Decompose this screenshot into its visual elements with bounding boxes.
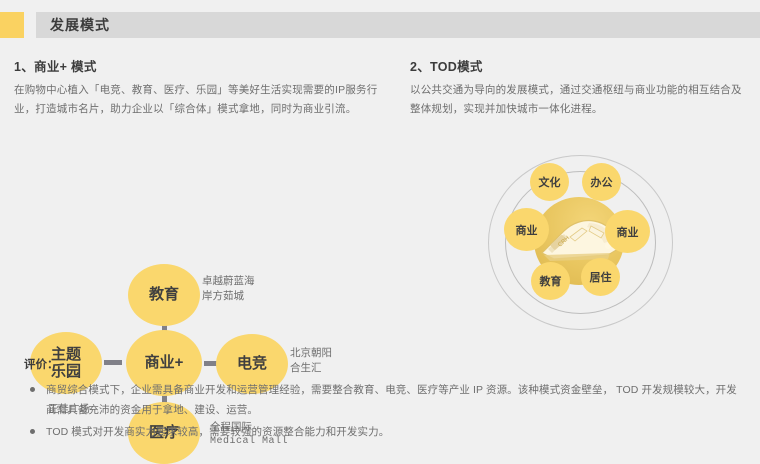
label-education-example-line1: 卓越蔚蓝海 <box>202 274 302 289</box>
section-right-body: 以公共交通为导向的发展模式，通过交通枢纽与商业功能的相互结合及整体规划，实现并加… <box>410 81 746 120</box>
section-right-text: 2、TOD模式 以公共交通为导向的发展模式，通过交通枢纽与商业功能的相互结合及整… <box>410 56 746 120</box>
commerce-plus-diagram: 教育 主题 乐园 商业+ 电竞 医疗 卓越蔚蓝海 岸方茹城 北京朝阳 合生汇 全… <box>0 130 380 345</box>
section-left-title: 1、商业+ 模式 <box>14 56 384 75</box>
bullet-icon <box>30 429 35 434</box>
label-education-example-line2: 岸方茹城 <box>202 289 302 304</box>
bullet-icon <box>30 387 35 392</box>
label-education-example: 卓越蔚蓝海 岸方茹城 <box>202 274 302 304</box>
list-item: 商贸综合模式下，企业需具备商业开发和运营管理经验，需要整合教育、电竞、医疗等产业… <box>24 380 744 421</box>
tod-node-commerce-left-label: 商业 <box>516 222 538 238</box>
list-item: TOD 模式对开发商实力要求较高，需要较强的资源整合能力和开发实力。 <box>24 422 744 442</box>
section-left-text: 1、商业+ 模式 在购物中心植入「电竞、教育、医疗、乐园」等美好生活实现需要的I… <box>14 56 384 120</box>
node-education[interactable]: 教育 <box>128 264 200 326</box>
node-education-label: 教育 <box>149 286 179 303</box>
section-left-body: 在购物中心植入「电竞、教育、医疗、乐园」等美好生活实现需要的IP服务行业，打造城… <box>14 81 384 120</box>
tod-node-education-label: 教育 <box>540 273 562 289</box>
section-right-title: 2、TOD模式 <box>410 56 746 75</box>
header-accent-block <box>0 12 24 38</box>
tod-node-commerce-left[interactable]: 商业 <box>504 208 549 251</box>
tod-node-culture[interactable]: 文化 <box>530 163 569 201</box>
tod-node-education[interactable]: 教育 <box>531 262 570 300</box>
page-header: 发展模式 <box>0 12 760 38</box>
tod-node-commerce-right[interactable]: 商业 <box>605 210 650 253</box>
header-bar <box>36 12 760 38</box>
page-title: 发展模式 <box>50 12 110 38</box>
tod-node-office[interactable]: 办公 <box>582 163 621 201</box>
evaluation-title: 评价： <box>24 356 744 372</box>
tod-node-culture-label: 文化 <box>539 174 561 190</box>
evaluation-item-text: 商贸综合模式下，企业需具备商业开发和运营管理经验，需要整合教育、电竞、医疗等产业… <box>46 384 737 416</box>
tod-node-office-label: 办公 <box>591 174 613 190</box>
tod-node-residence[interactable]: 居住 <box>581 258 620 296</box>
evaluation-section: 评价： 商贸综合模式下，企业需具备商业开发和运营管理经验，需要整合教育、电竞、医… <box>24 356 744 443</box>
tod-node-commerce-right-label: 商业 <box>617 224 639 240</box>
evaluation-item-text: TOD 模式对开发商实力要求较高，需要较强的资源整合能力和开发实力。 <box>46 426 389 438</box>
evaluation-list: 商贸综合模式下，企业需具备商业开发和运营管理经验，需要整合教育、电竞、医疗等产业… <box>24 380 744 442</box>
tod-diagram: CRH 文化 办公 商业 商业 教育 居住 <box>488 155 680 331</box>
tod-node-residence-label: 居住 <box>590 269 612 285</box>
